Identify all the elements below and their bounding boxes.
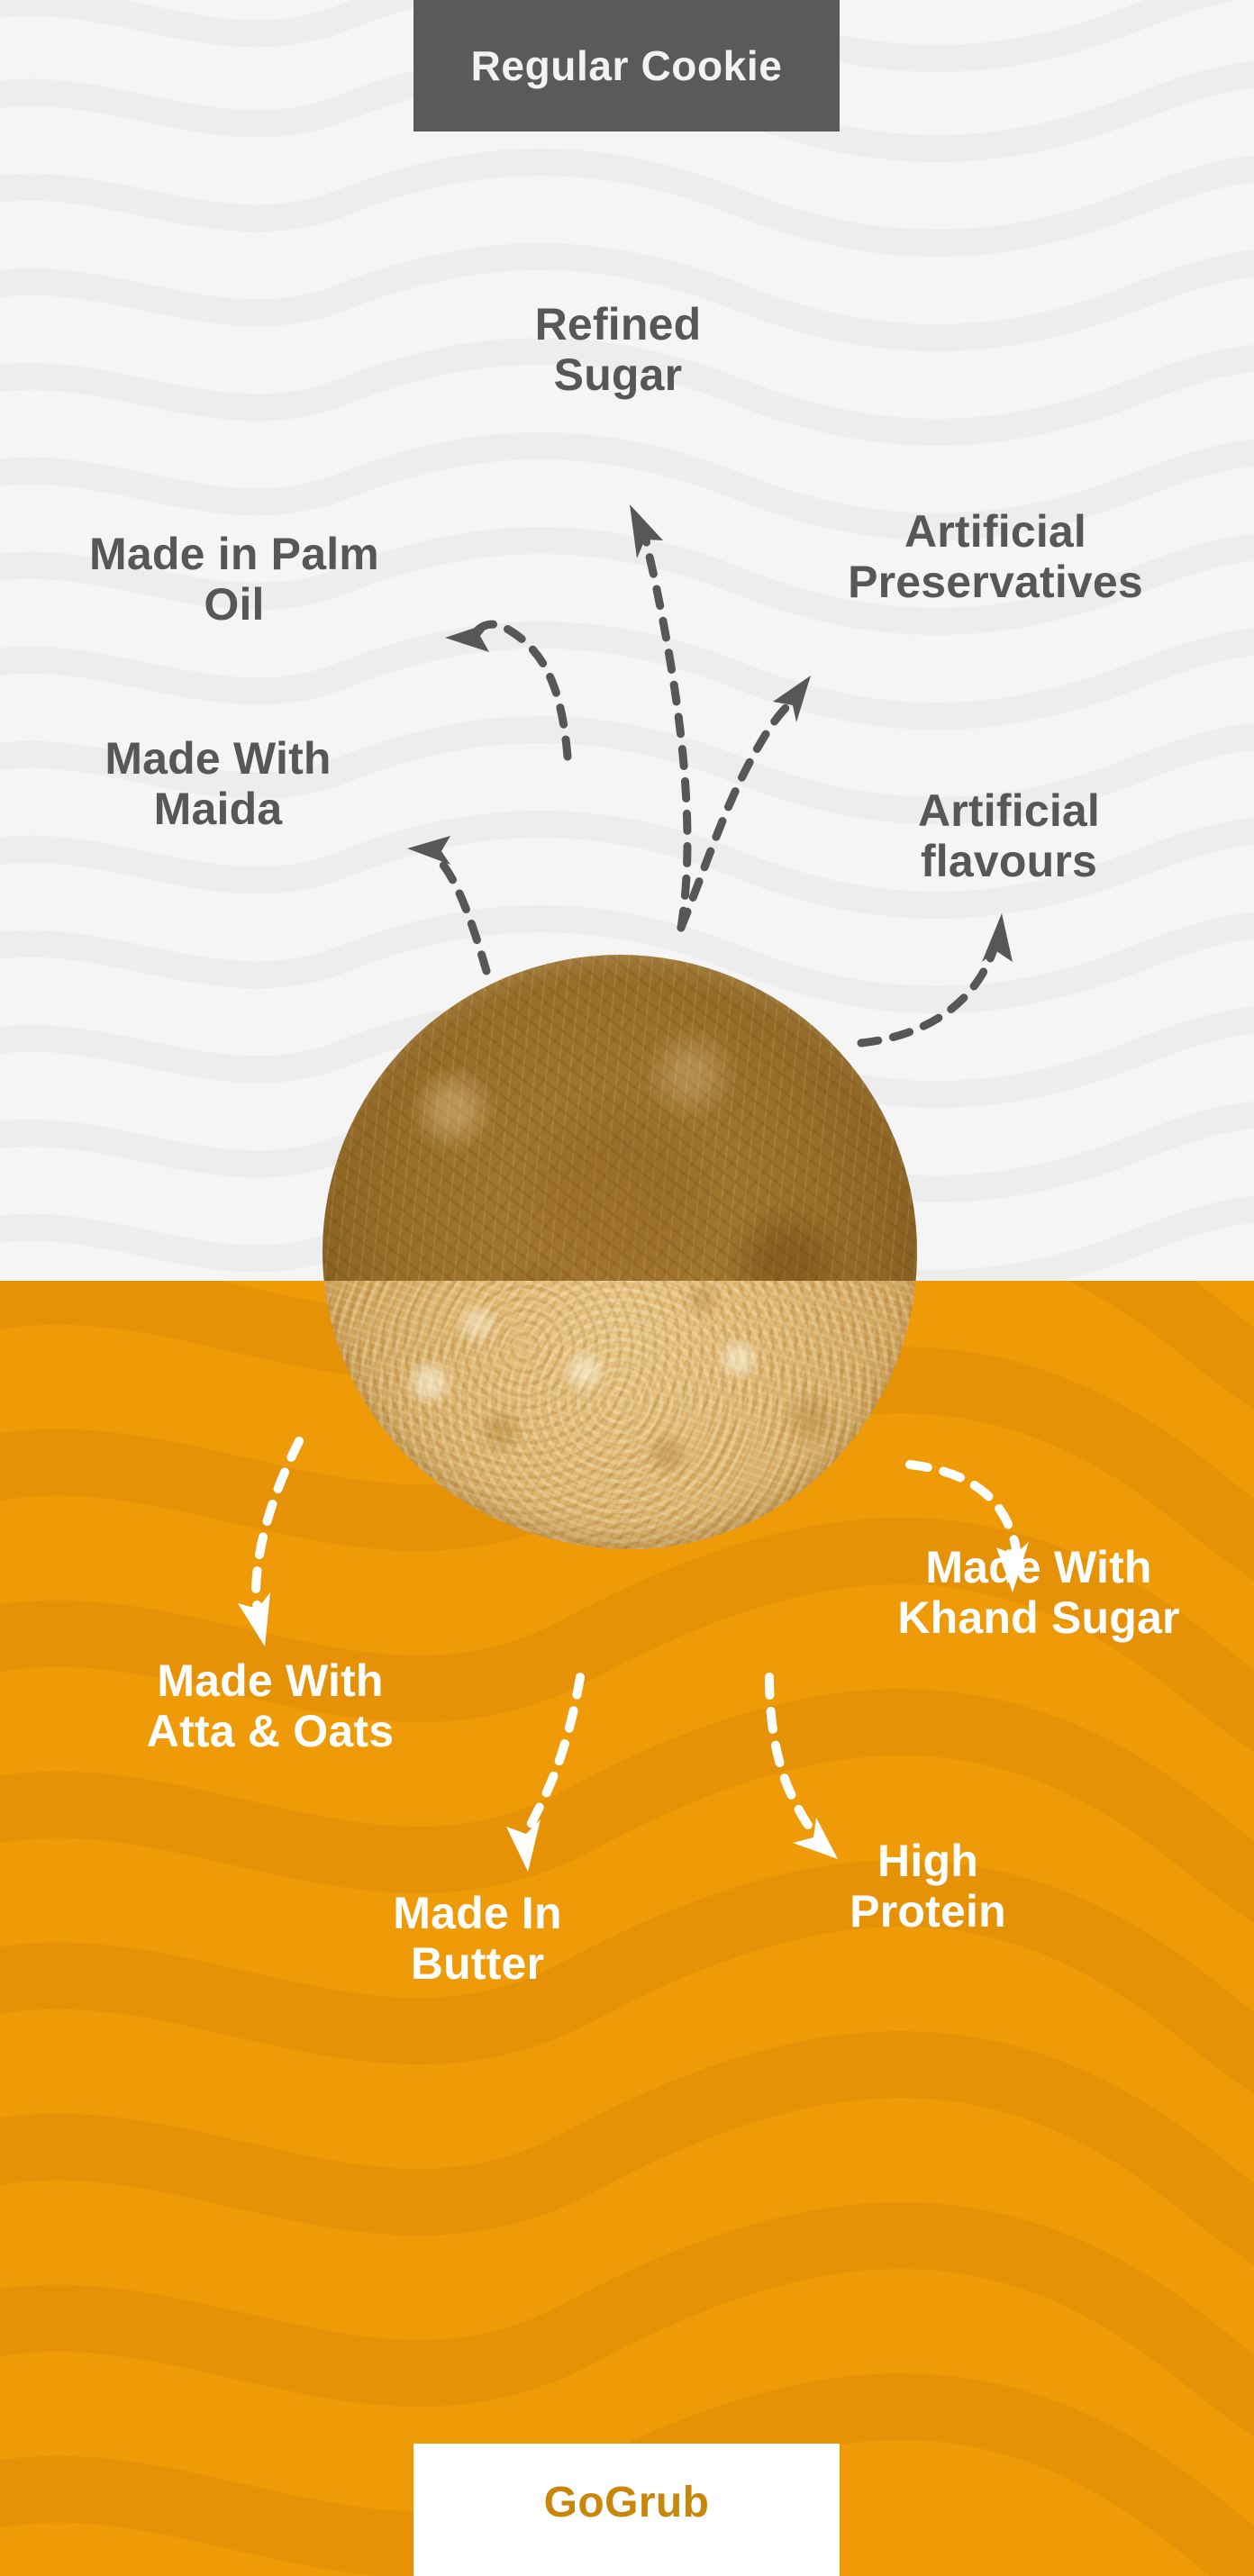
label-artificial-preservatives: Artificial Preservatives	[766, 506, 1225, 607]
infographic-poster: Refined Sugar Made in Palm Oil Artificia…	[0, 0, 1254, 2576]
header-badge: Regular Cookie	[413, 0, 840, 132]
label-artificial-flavours: Artificial flavours	[838, 785, 1180, 886]
label-refined-sugar: Refined Sugar	[456, 299, 780, 400]
cookie-bottom-half-gogrub	[323, 1281, 917, 1549]
footer-logo-box: GoGrub	[413, 2444, 840, 2576]
header-badge-label: Regular Cookie	[471, 41, 783, 90]
brand-logo-text: GoGrub	[544, 2478, 710, 2527]
label-made-in-butter: Made In Butter	[297, 1888, 658, 1989]
label-made-with-khand-sugar: Made With Khand Sugar	[827, 1542, 1250, 1643]
cookie-image	[323, 955, 917, 1549]
label-made-with-maida: Made With Maida	[20, 733, 416, 834]
label-high-protein: High Protein	[793, 1836, 1063, 1937]
label-made-in-palm-oil: Made in Palm Oil	[27, 529, 441, 630]
cookie-top-half-regular	[323, 955, 917, 1281]
label-made-with-atta-and-oats: Made With Atta & Oats	[45, 1655, 495, 1756]
